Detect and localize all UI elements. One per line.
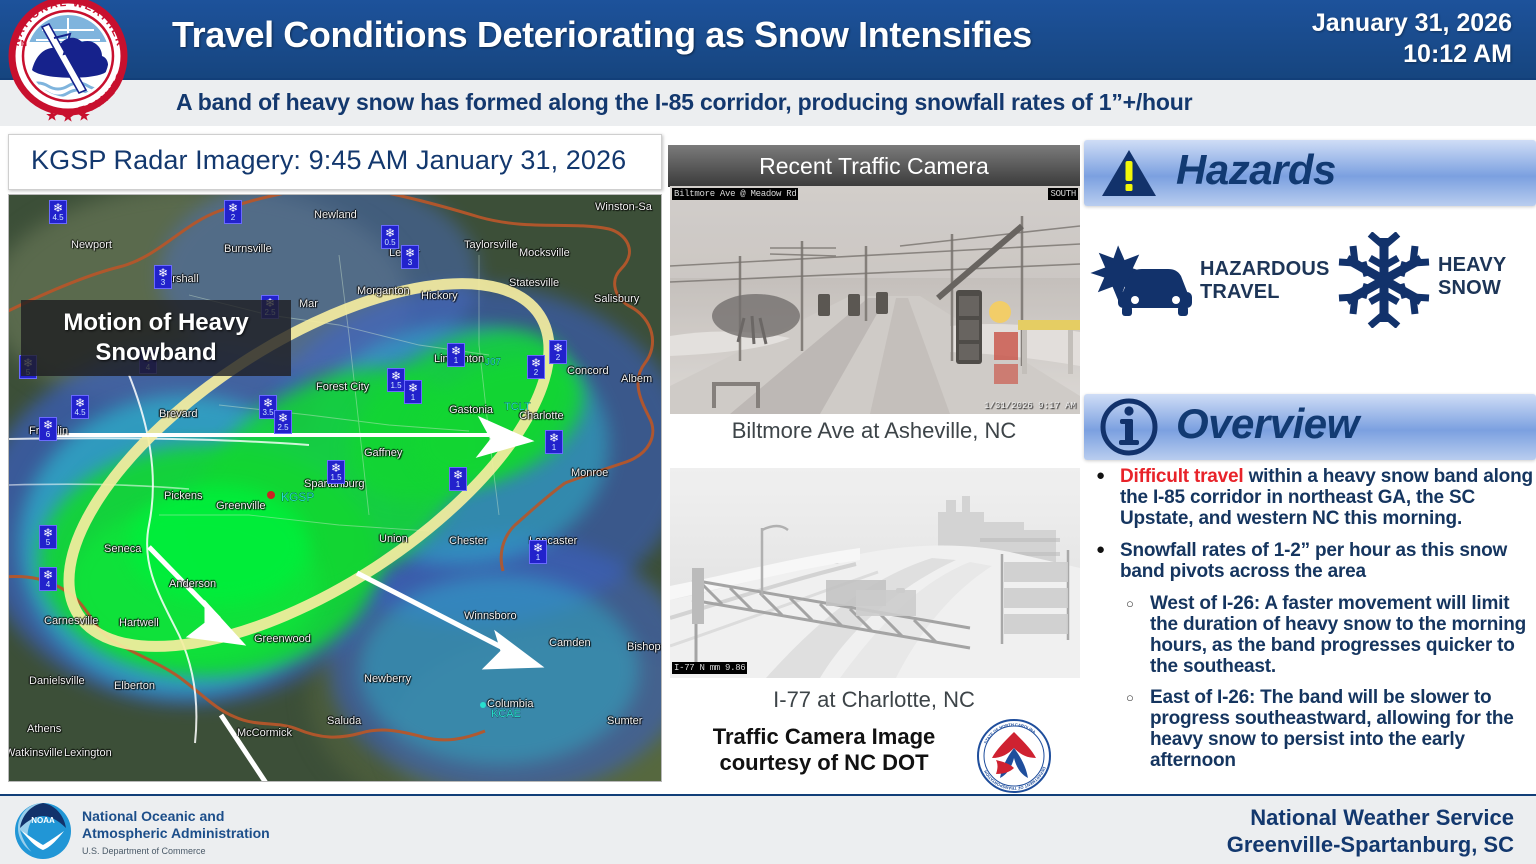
city-label: Burnsville (224, 243, 272, 255)
camera1-direction-overlay: SOUTH (1048, 188, 1078, 200)
snow-amount: 2 (550, 354, 566, 362)
city-label: Carnesville (44, 615, 98, 627)
page-header: Travel Conditions Deteriorating as Snow … (0, 0, 1536, 78)
city-label: Danielsville (29, 675, 85, 687)
snow-amount: 2 (528, 369, 544, 377)
snow-amount: 4.5 (72, 409, 88, 417)
city-label: Watkinsville (8, 747, 63, 759)
city-label: Statesville (509, 277, 559, 289)
overview-bullet-highlight: West of I-26 (1150, 593, 1254, 614)
camera-credit-line1: Traffic Camera Image (674, 724, 974, 750)
overview-bullet: East of I-26: The band will be slower to… (1084, 687, 1536, 771)
office-line2: Greenville-Spartanburg, SC (1227, 831, 1514, 858)
camera1-timestamp: 1/31/2026 9:17 AM (984, 401, 1076, 411)
hazard-label-line2: TRAVEL (1200, 281, 1320, 304)
snow-report-icon[interactable]: ❄4.5 (49, 200, 67, 224)
snow-amount: 1 (546, 444, 562, 452)
city-label: Brevard (159, 408, 198, 420)
snow-amount: 3 (402, 259, 418, 267)
hazard-label-hazardous-travel: HAZARDOUS TRAVEL (1200, 258, 1320, 304)
page-footer: NOAA National Oceanic and Atmospheric Ad… (0, 794, 1536, 864)
city-label: Taylorsville (464, 239, 518, 251)
overview-bullet-highlight: Difficult travel (1120, 466, 1244, 487)
city-label: Sumter (607, 715, 642, 727)
city-label: Anderson (169, 578, 216, 590)
city-label: Columbia (487, 698, 533, 710)
overview-bullet: Snowfall rates of 1-2” per hour as this … (1084, 540, 1536, 582)
snow-report-icon[interactable]: ❄1 (404, 380, 422, 404)
city-label: Camden (549, 637, 591, 649)
overview-section-header: Overview (1084, 394, 1536, 460)
snow-report-icon[interactable]: ❄2.5 (274, 410, 292, 434)
car-crash-icon (1088, 236, 1196, 326)
hazards-section-header: Hazards (1084, 140, 1536, 206)
snowband-motion-label: Motion of Heavy Snowband (21, 300, 291, 376)
city-label: Newport (71, 239, 112, 251)
snow-report-icon[interactable]: ❄4 (39, 567, 57, 591)
city-label: Seneca (104, 543, 141, 555)
overview-bullet-text: Snowfall rates of 1-2” per hour as this … (1120, 540, 1507, 582)
city-label: Albem (621, 373, 652, 385)
snow-report-icon[interactable]: ❄2 (549, 340, 567, 364)
right-info-panel: Hazards HAZARDOUS TRAVEL (1084, 140, 1534, 794)
snow-amount: 1 (530, 554, 546, 562)
hazard-label-line1: HEAVY (1438, 254, 1536, 277)
city-label: McCormick (237, 727, 292, 739)
city-label: Concord (567, 365, 609, 377)
camera-credit-line2: courtesy of NC DOT (674, 750, 974, 776)
city-label: Mocksville (519, 247, 570, 259)
hazard-label-heavy-snow: HEAVY SNOW (1438, 254, 1536, 300)
subheader-bar: A band of heavy snow has formed along th… (0, 78, 1536, 126)
camera-section-header: Recent Traffic Camera (668, 145, 1080, 187)
header-time: 10:12 AM (1212, 39, 1512, 70)
city-label: Forest City (316, 381, 369, 393)
city-label: Gaffney (364, 447, 402, 459)
city-label: Morganton (357, 285, 410, 297)
city-label: Bishopv (627, 641, 662, 653)
snow-report-icon[interactable]: ❄1 (449, 467, 467, 491)
radar-panel: KGSP Radar Imagery: 9:45 AM January 31, … (6, 134, 662, 794)
snow-amount: 1.5 (388, 382, 404, 390)
overview-bullet-list: Difficult travel within a heavy snow ban… (1084, 466, 1536, 781)
header-datetime: January 31, 2026 10:12 AM (1212, 8, 1512, 70)
city-label: Union (379, 533, 408, 545)
overview-bullet-highlight: East of I-26: (1150, 687, 1255, 708)
hazard-item-heavy-snow: HEAVY SNOW (1336, 232, 1432, 333)
snow-amount: 3 (155, 279, 171, 287)
radar-title-bar: KGSP Radar Imagery: 9:45 AM January 31, … (8, 134, 662, 190)
snow-report-icon[interactable]: ❄3 (401, 245, 419, 269)
info-circle-icon (1098, 397, 1160, 457)
city-label: Gastonia (449, 404, 493, 416)
city-label: Saluda (327, 715, 361, 727)
snow-amount: 0.5 (382, 239, 398, 247)
city-label: Mar (299, 298, 318, 310)
snow-report-icon[interactable]: ❄2 (527, 355, 545, 379)
snow-amount: 4.5 (50, 214, 66, 222)
overview-title: Overview (1176, 400, 1359, 448)
snow-report-icon[interactable]: ❄0.5 (381, 225, 399, 249)
city-label: Greenville (216, 500, 266, 512)
city-label: Winston-Sa (595, 201, 652, 213)
city-label: Lexington (64, 747, 112, 759)
snow-amount: 4 (40, 581, 56, 589)
traffic-camera-panel: Recent Traffic Camera (668, 140, 1080, 794)
snow-report-icon[interactable]: ❄2 (224, 200, 242, 224)
overview-bullet: West of I-26: A faster movement will lim… (1084, 593, 1536, 677)
snow-amount: 2 (225, 214, 241, 222)
hazard-label-line2: SNOW (1438, 277, 1536, 300)
snow-report-icon[interactable]: ❄1.5 (327, 460, 345, 484)
nws-roundel-logo: N NATIONAL WEATHER SERVICE (8, 0, 128, 122)
svg-text:J07: J07 (485, 357, 502, 368)
city-label: Monroe (571, 467, 608, 479)
radar-map-image[interactable]: KGSP KCAE TCLT J07 NewportBurnsvilleNewl… (8, 194, 662, 782)
page-title: Travel Conditions Deteriorating as Snow … (172, 14, 1252, 56)
city-label: Newland (314, 209, 357, 221)
hazard-icon-row: HAZARDOUS TRAVEL (1084, 236, 1536, 356)
snow-amount: 2.5 (275, 424, 291, 432)
snow-report-icon[interactable]: ❄5 (39, 525, 57, 549)
overview-bullets: Difficult travel within a heavy snow ban… (1084, 466, 1536, 771)
camera-image-charlotte[interactable]: I-77 N mm 9.86 (670, 468, 1080, 678)
camera2-location-overlay: I-77 N mm 9.86 (672, 662, 747, 674)
ncdot-seal-logo: STATE OF NORTH CAROLINA DEPARTMENT OF TR… (976, 718, 1052, 794)
camera2-caption: I-77 at Charlotte, NC (668, 687, 1080, 713)
city-label: Salisbury (594, 293, 639, 305)
noaa-line1: National Oceanic and (82, 808, 270, 825)
noaa-line2: Atmospheric Administration (82, 825, 270, 842)
hazard-item-hazardous-travel: HAZARDOUS TRAVEL (1088, 236, 1196, 331)
snow-amount: 5 (40, 539, 56, 547)
city-label: Chester (449, 535, 488, 547)
snow-amount: 1.5 (328, 474, 344, 482)
office-line1: National Weather Service (1227, 804, 1514, 831)
warning-triangle-icon (1100, 147, 1158, 199)
city-label: Charlotte (519, 410, 564, 422)
snowband-label-line2: Snowband (21, 338, 291, 368)
hazard-label-line1: HAZARDOUS (1200, 258, 1320, 281)
city-label: Hartwell (119, 617, 159, 629)
radar-title: KGSP Radar Imagery: 9:45 AM January 31, … (31, 145, 626, 176)
camera1-caption: Biltmore Ave at Asheville, NC (668, 418, 1080, 444)
header-date: January 31, 2026 (1212, 8, 1512, 39)
camera-credit: Traffic Camera Image courtesy of NC DOT (674, 724, 974, 776)
nws-office-text: National Weather Service Greenville-Spar… (1227, 804, 1514, 858)
noaa-line3: U.S. Department of Commerce (82, 846, 270, 856)
city-label: Winnsboro (464, 610, 517, 622)
subheader-text: A band of heavy snow has formed along th… (176, 89, 1426, 116)
snow-report-icon[interactable]: ❄1 (545, 430, 563, 454)
city-label: Greenwood (254, 633, 311, 645)
city-label: Athens (27, 723, 61, 735)
snow-amount: 6 (40, 431, 56, 439)
snow-amount: 1 (450, 481, 466, 489)
svg-text:KGSP: KGSP (281, 490, 314, 504)
snowflake-icon (1336, 232, 1432, 328)
snow-report-icon[interactable]: ❄4.5 (71, 395, 89, 419)
city-label: Elberton (114, 680, 155, 692)
camera-image-asheville[interactable]: Biltmore Ave @ Meadow Rd SOUTH 1/31/2026… (670, 186, 1080, 414)
city-label: Pickens (164, 490, 203, 502)
hazards-title: Hazards (1176, 146, 1336, 194)
overview-bullet: Difficult travel within a heavy snow ban… (1084, 466, 1536, 529)
snow-report-icon[interactable]: ❄3 (154, 265, 172, 289)
city-label: Newberry (364, 673, 411, 685)
city-label: Hickory (421, 290, 458, 302)
snow-amount: 1 (405, 394, 421, 402)
snow-report-icon[interactable]: ❄6 (39, 417, 57, 441)
snowband-label-line1: Motion of Heavy (21, 308, 291, 338)
svg-text:NOAA: NOAA (31, 816, 55, 825)
snow-report-icon[interactable]: ❄1.5 (387, 368, 405, 392)
snow-amount: 1 (448, 357, 464, 365)
snow-report-icon[interactable]: ❄1 (447, 343, 465, 367)
noaa-agency-text: National Oceanic and Atmospheric Adminis… (82, 808, 270, 856)
noaa-seal-logo: NOAA (14, 802, 72, 860)
snow-report-icon[interactable]: ❄1 (529, 540, 547, 564)
camera1-location-overlay: Biltmore Ave @ Meadow Rd (672, 188, 798, 200)
